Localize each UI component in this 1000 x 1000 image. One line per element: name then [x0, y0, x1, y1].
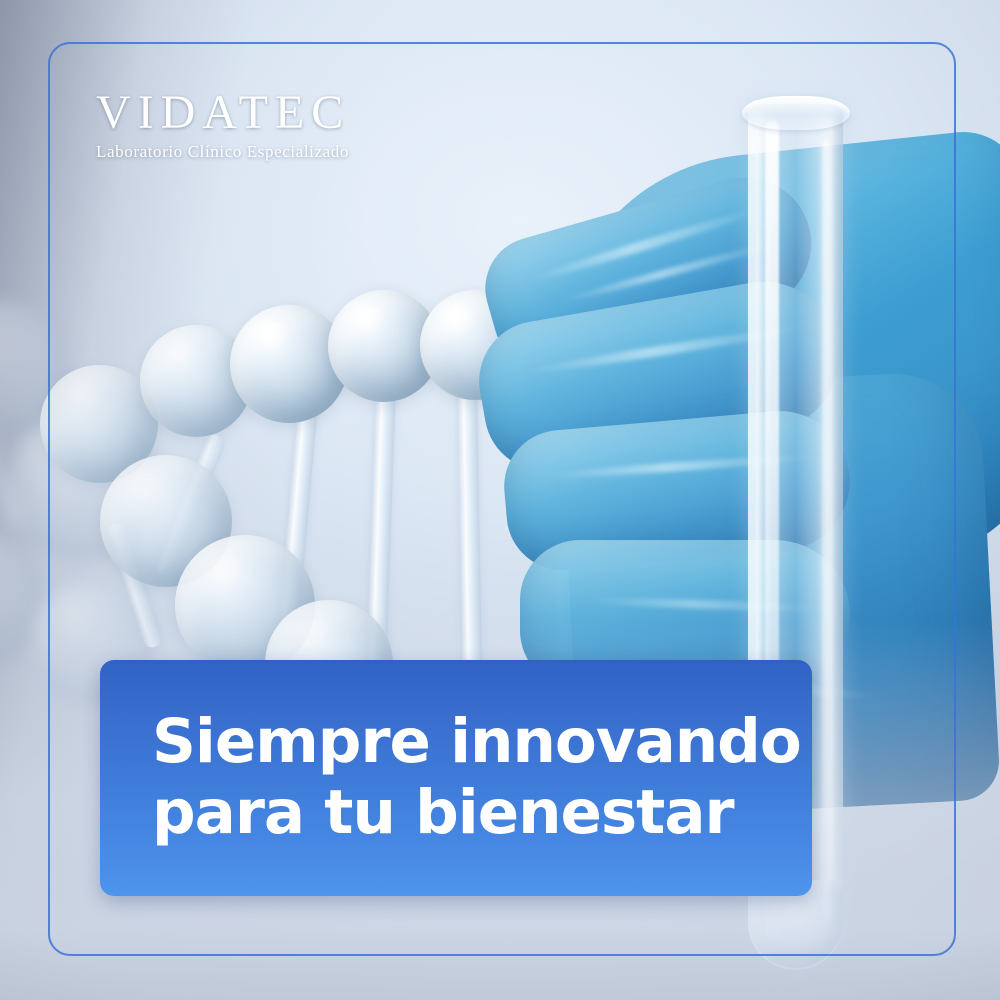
brand-tagline: Laboratorio Clínico Especializado: [96, 142, 516, 162]
brand-name: VIDATEC: [96, 88, 516, 138]
headline-line-1: Siempre innovando: [152, 707, 760, 778]
headline-line-2: para tu bienestar: [152, 778, 760, 849]
headline-banner: Siempre innovando para tu bienestar: [100, 660, 812, 896]
promotional-poster: VIDATEC Laboratorio Clínico Especializad…: [0, 0, 1000, 1000]
brand-logo: VIDATEC Laboratorio Clínico Especializad…: [96, 88, 516, 162]
